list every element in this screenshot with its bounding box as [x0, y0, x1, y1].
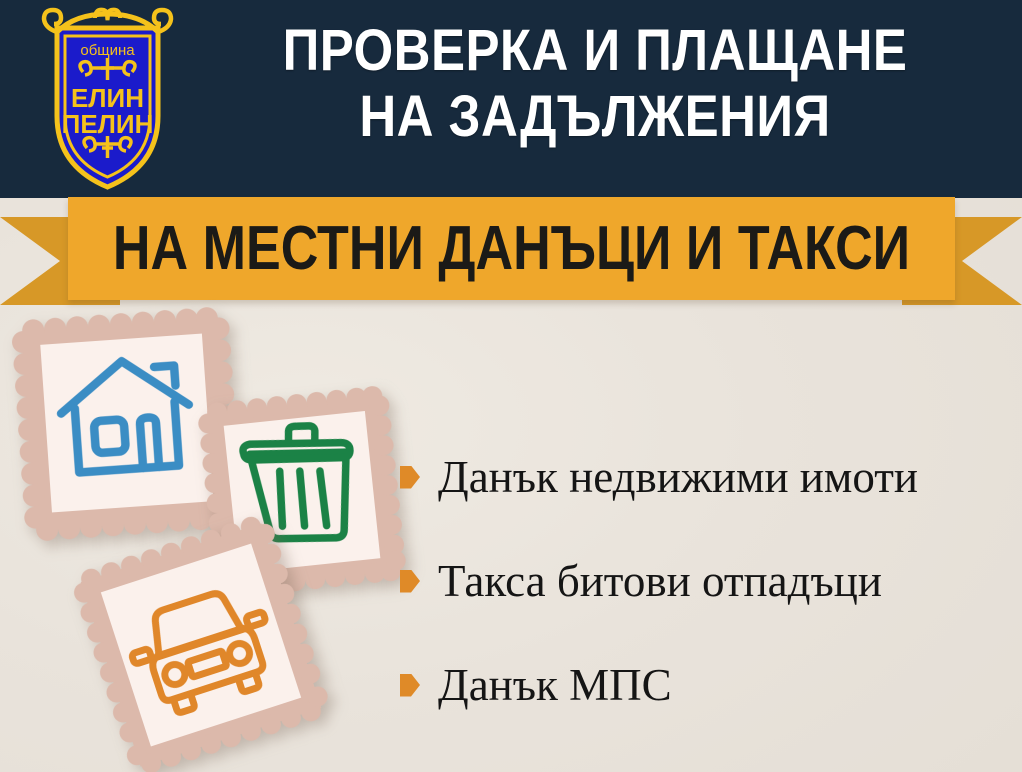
page-title: ПРОВЕРКА И ПЛАЩАНЕ НА ЗАДЪЛЖЕНИЯ: [185, 18, 1005, 150]
list-item[interactable]: Данък недвижими имоти: [400, 425, 1010, 529]
bullet-arrow-icon: [400, 570, 420, 593]
logo-text-pelin: ПЕЛИН: [62, 109, 154, 139]
promo-banner-page: община ЕЛИН ПЕЛИН ПРОВЕРКА И ПЛАЩАНЕ НА …: [0, 0, 1022, 772]
subtitle-ribbon: НА МЕСТНИ ДАНЪЦИ И ТАКСИ: [0, 197, 1022, 309]
logo-text-obshtina: община: [80, 42, 135, 59]
list-item-label: Данък МПС: [438, 663, 672, 708]
page-title-line-2: НА ЗАДЪЛЖЕНИЯ: [234, 84, 956, 150]
list-item[interactable]: Такса битови отпадъци: [400, 529, 1010, 633]
ribbon-label: НА МЕСТНИ ДАНЪЦИ И ТАКСИ: [113, 213, 910, 284]
coat-of-arms-icon: община ЕЛИН ПЕЛИН: [35, 6, 180, 191]
ribbon-text-wrap: НА МЕСТНИ ДАНЪЦИ И ТАКСИ: [68, 197, 955, 300]
bullet-arrow-icon: [400, 674, 420, 697]
municipality-logo: община ЕЛИН ПЕЛИН: [35, 6, 180, 191]
page-title-line-1: ПРОВЕРКА И ПЛАЩАНЕ: [234, 18, 956, 84]
tax-types-list: Данък недвижими имоти Такса битови отпад…: [400, 425, 1010, 737]
list-item-label: Такса битови отпадъци: [438, 559, 882, 604]
bullet-arrow-icon: [400, 466, 420, 489]
list-item-label: Данък недвижими имоти: [438, 455, 918, 500]
list-item[interactable]: Данък МПС: [400, 633, 1010, 737]
